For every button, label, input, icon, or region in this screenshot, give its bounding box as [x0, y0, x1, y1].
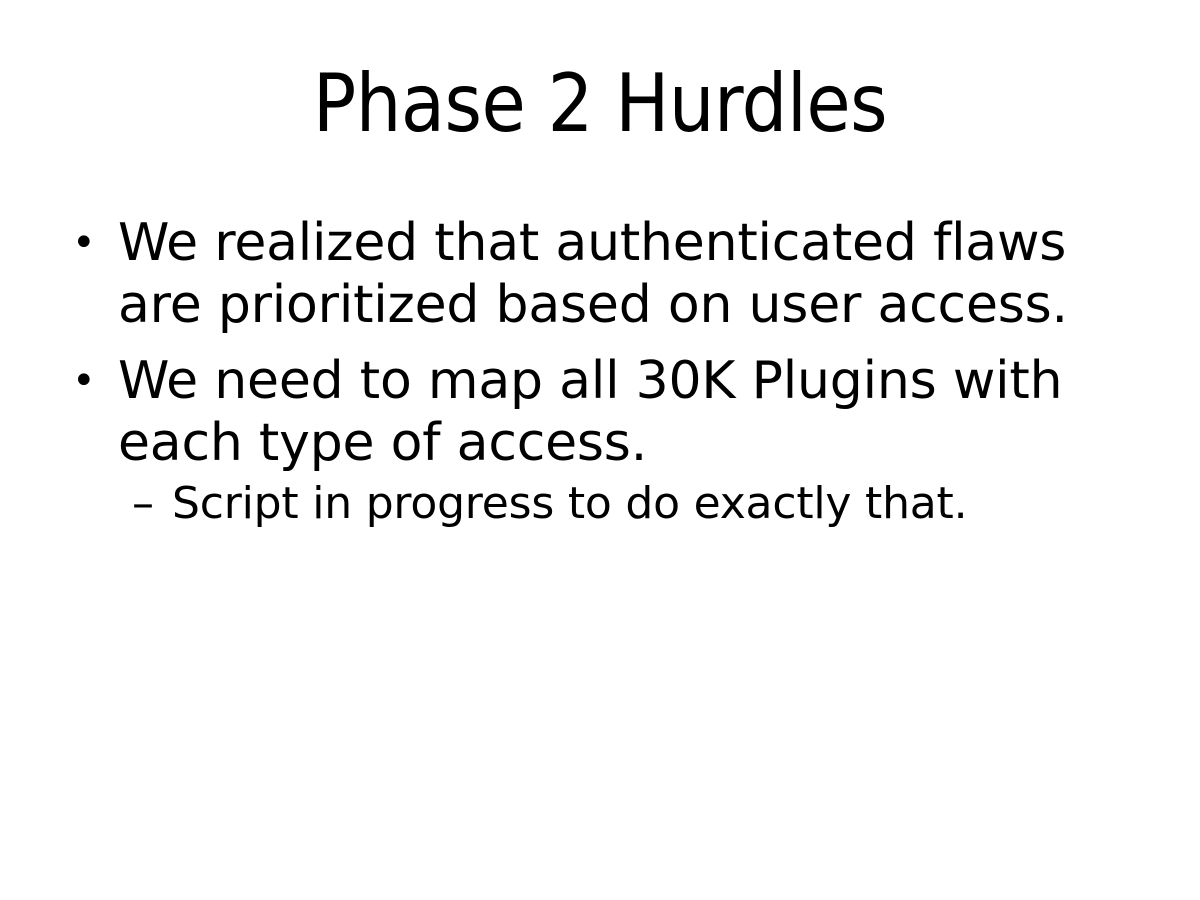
bullet-dash-icon: –	[132, 476, 164, 532]
bullet-item-2: • We need to map all 30K Plugins with ea…	[60, 350, 1140, 532]
bullet-item-2-text: We need to map all 30K Plugins with each…	[118, 351, 1062, 473]
slide-body-placeholder: • We realized that authenticated flaws a…	[60, 212, 1140, 546]
bullet-dot-icon: •	[72, 350, 98, 412]
bullet-item-1-text: We realized that authenticated flaws are…	[118, 213, 1068, 335]
bullet-dot-icon: •	[72, 212, 98, 274]
sub-bullet-item-1: – Script in progress to do exactly that.	[118, 476, 1140, 532]
bullet-item-1: • We realized that authenticated flaws a…	[60, 212, 1140, 336]
sub-bullet-item-1-text: Script in progress to do exactly that.	[172, 478, 967, 529]
bullet-list-level-2: – Script in progress to do exactly that.	[118, 476, 1140, 532]
bullet-list-level-1: • We realized that authenticated flaws a…	[60, 212, 1140, 532]
slide-title: Phase 2 Hurdles	[60, 62, 1140, 147]
slide-canvas: Phase 2 Hurdles • We realized that authe…	[0, 0, 1200, 900]
